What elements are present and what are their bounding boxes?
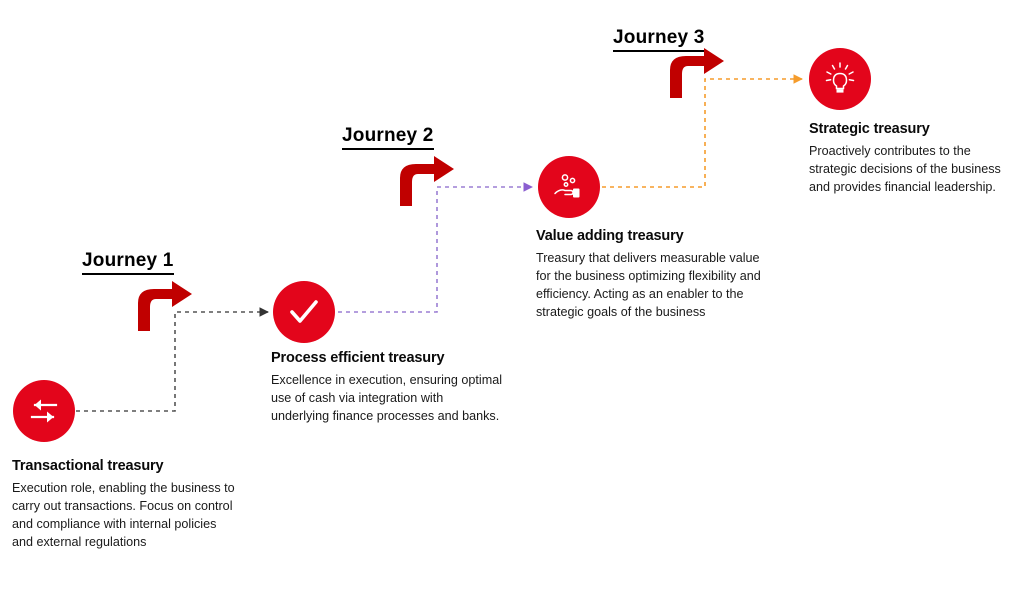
stage-text-strategic: Strategic treasury Proactively contribut… <box>809 121 1021 197</box>
journey-arrow-3-icon <box>662 48 724 98</box>
stage-icon-transactional <box>13 380 75 442</box>
stage-desc-value-adding: Treasury that delivers measurable value … <box>536 250 776 322</box>
stage-icon-process-efficient <box>273 281 335 343</box>
journey-arrow-2-icon <box>392 156 454 206</box>
journey-label-1: Journey 1 <box>82 250 174 275</box>
stage-title-strategic: Strategic treasury <box>809 121 1021 137</box>
stage-text-process-efficient: Process efficient treasury Excellence in… <box>271 350 503 426</box>
journey-label-2: Journey 2 <box>342 125 434 150</box>
checkmark-icon <box>286 294 322 330</box>
stage-desc-transactional: Execution role, enabling the business to… <box>12 480 237 552</box>
stage-icon-value-adding <box>538 156 600 218</box>
stage-desc-process-efficient: Excellence in execution, ensuring optima… <box>271 372 503 426</box>
journey-arrow-1-icon <box>130 281 192 331</box>
stage-text-transactional: Transactional treasury Execution role, e… <box>12 458 237 552</box>
stage-desc-strategic: Proactively contributes to the strategic… <box>809 143 1021 197</box>
stage-icon-strategic <box>809 48 871 110</box>
stage-text-value-adding: Value adding treasury Treasury that deli… <box>536 228 776 322</box>
stage-title-transactional: Transactional treasury <box>12 458 237 474</box>
lightbulb-icon <box>822 61 858 97</box>
exchange-arrows-icon <box>27 394 61 428</box>
treasury-journey-diagram: Journey 1 Journey 2 Journey 3 Transactio… <box>0 0 1024 600</box>
stage-title-value-adding: Value adding treasury <box>536 228 776 244</box>
stage-title-process-efficient: Process efficient treasury <box>271 350 503 366</box>
hand-with-coins-icon <box>551 169 587 205</box>
